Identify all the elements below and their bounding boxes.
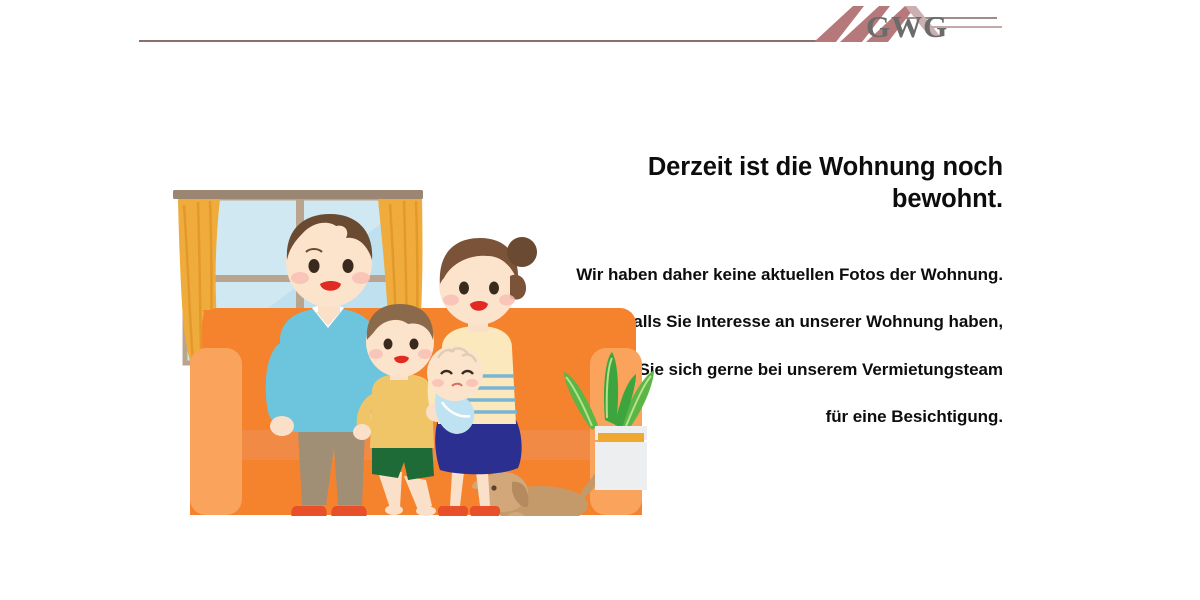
family-on-sofa-illustration xyxy=(150,180,690,540)
curtain-rod xyxy=(173,190,423,199)
header-rule-lower xyxy=(139,40,817,42)
hair-bun xyxy=(507,237,537,267)
page-header: GWG xyxy=(0,0,1200,60)
sofa-armrest-left xyxy=(190,348,242,515)
floor xyxy=(150,516,690,540)
gwg-wordmark: GWG xyxy=(866,9,948,45)
